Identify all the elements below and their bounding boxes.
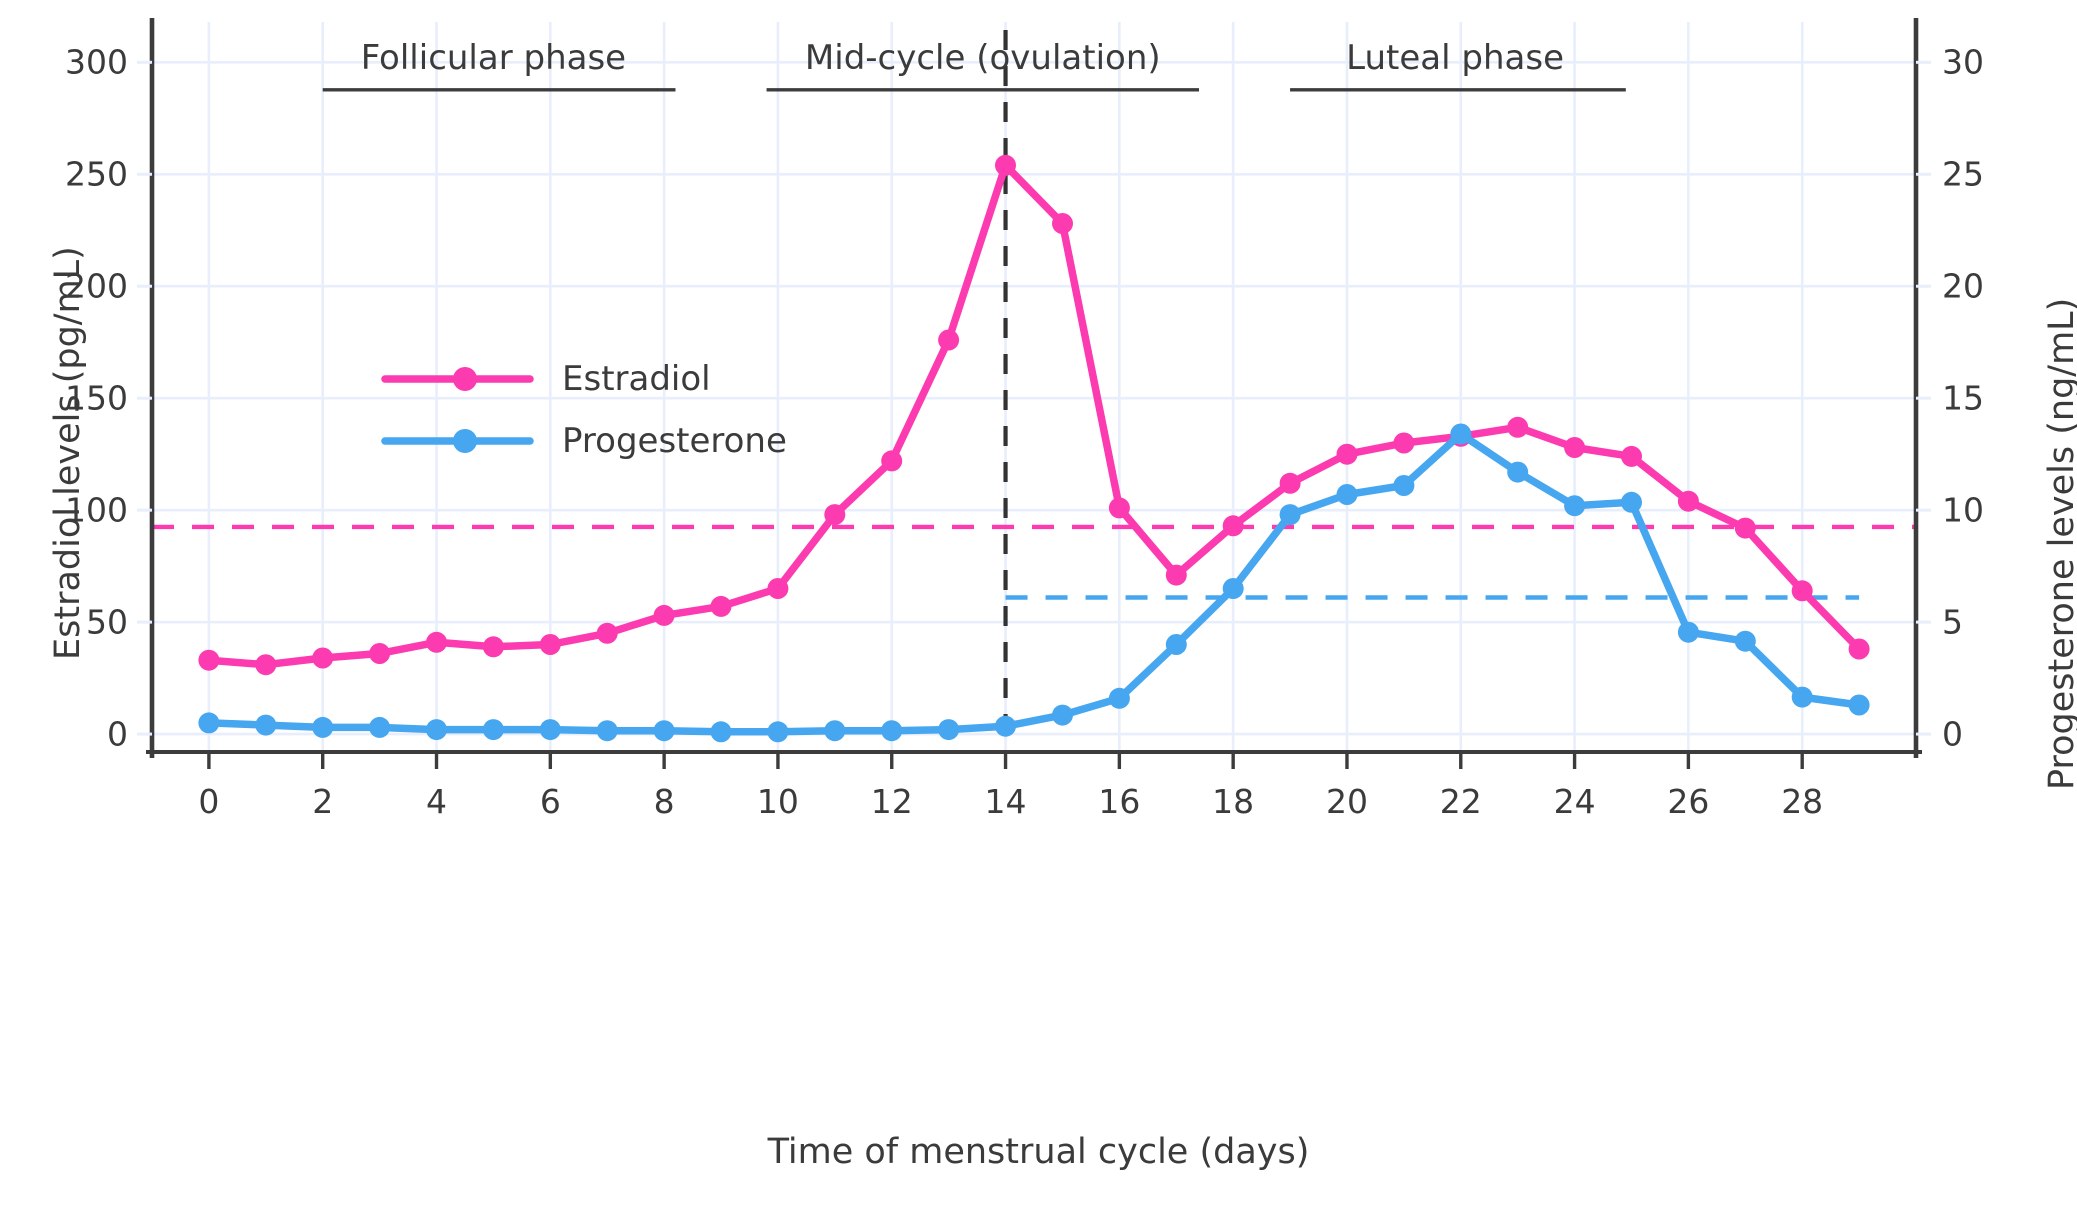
data-point [1393, 475, 1414, 496]
x-axis-tick-label: 4 [426, 782, 447, 821]
data-point [1564, 437, 1585, 458]
x-axis-tick-label: 10 [757, 782, 799, 821]
data-point [540, 719, 561, 740]
y-axis-right-tick-label: 15 [1942, 379, 1984, 418]
data-point [654, 720, 675, 741]
y-axis-right-tick-label: 10 [1942, 491, 1984, 530]
data-point [824, 720, 845, 741]
data-point [426, 632, 447, 653]
x-axis-title: Time of menstrual cycle (days) [0, 1132, 2077, 1172]
chart-figure: 0501001502002503000510152025300246810121… [0, 0, 2077, 1208]
data-point [540, 634, 561, 655]
x-axis-tick-label: 24 [1554, 782, 1596, 821]
data-point [1621, 492, 1642, 513]
axes-layer [137, 18, 1931, 769]
data-series-layer [198, 155, 1869, 743]
data-point [255, 654, 276, 675]
legend-swatches-layer [385, 367, 530, 453]
data-point [1678, 622, 1699, 643]
data-point [995, 716, 1016, 737]
series-line-progesterone [209, 434, 1859, 732]
series-progesterone [198, 424, 1869, 743]
data-point [1337, 444, 1358, 465]
data-point [1849, 695, 1870, 716]
data-point [1849, 639, 1870, 660]
y-axis-right-title: Progesterone levels (ng/mL) [2042, 298, 2077, 790]
legend-marker-progesterone [453, 429, 477, 453]
data-point [711, 596, 732, 617]
data-point [1450, 424, 1471, 445]
reference-lines-layer [152, 527, 1916, 598]
data-point [1564, 495, 1585, 516]
y-axis-right-tick-label: 0 [1942, 715, 1963, 754]
data-point [881, 720, 902, 741]
data-point [312, 717, 333, 738]
x-axis-tick-label: 26 [1667, 782, 1709, 821]
data-point [1678, 491, 1699, 512]
data-point [1735, 631, 1756, 652]
data-point [767, 721, 788, 742]
data-point [1223, 515, 1244, 536]
legend-marker-estradiol [453, 367, 477, 391]
y-axis-left-tick-label: 250 [65, 155, 128, 194]
data-point [1280, 473, 1301, 494]
data-point [938, 330, 959, 351]
data-point [767, 578, 788, 599]
data-point [597, 623, 618, 644]
x-axis-tick-label: 28 [1781, 782, 1823, 821]
y-axis-right-tick-label: 5 [1942, 603, 1963, 642]
data-point [654, 605, 675, 626]
data-point [1621, 446, 1642, 467]
y-axis-left-tick-label: 300 [65, 43, 128, 82]
y-axis-right-tick-label: 30 [1942, 43, 1984, 82]
data-point [483, 719, 504, 740]
data-point [1109, 688, 1130, 709]
x-axis-tick-label: 20 [1326, 782, 1368, 821]
data-point [369, 717, 390, 738]
series-line-estradiol [209, 165, 1859, 664]
x-axis-tick-label: 0 [198, 782, 219, 821]
data-point [1223, 578, 1244, 599]
data-point [1166, 634, 1187, 655]
data-point [1792, 687, 1813, 708]
phase-label-luteal-phase: Luteal phase [1346, 38, 1564, 78]
x-axis-tick-label: 16 [1098, 782, 1140, 821]
chart-canvas [0, 0, 2077, 1208]
data-point [1792, 580, 1813, 601]
data-point [824, 504, 845, 525]
data-point [1280, 504, 1301, 525]
y-axis-right-tick-label: 25 [1942, 155, 1984, 194]
data-point [1052, 705, 1073, 726]
data-point [426, 719, 447, 740]
x-axis-tick-label: 2 [312, 782, 333, 821]
legend-label-estradiol: Estradiol [562, 359, 711, 399]
data-point [255, 715, 276, 736]
data-point [1507, 417, 1528, 438]
data-point [938, 719, 959, 740]
y-axis-left-tick-label: 50 [86, 603, 128, 642]
data-point [483, 636, 504, 657]
data-point [1735, 518, 1756, 539]
x-axis-tick-label: 18 [1212, 782, 1254, 821]
x-axis-tick-label: 12 [871, 782, 913, 821]
data-point [597, 720, 618, 741]
y-axis-left-title: Estradiol levels (pg/mL) [48, 246, 88, 660]
data-point [369, 643, 390, 664]
data-point [1052, 213, 1073, 234]
phase-label-follicular-phase: Follicular phase [361, 38, 626, 78]
x-axis-tick-label: 14 [985, 782, 1027, 821]
x-axis-tick-label: 8 [654, 782, 675, 821]
data-point [1337, 484, 1358, 505]
y-axis-right-tick-label: 20 [1942, 267, 1984, 306]
data-point [1393, 433, 1414, 454]
data-point [1166, 565, 1187, 586]
data-point [198, 650, 219, 671]
data-point [711, 721, 732, 742]
data-point [995, 155, 1016, 176]
data-point [312, 648, 333, 669]
data-point [881, 450, 902, 471]
data-point [1507, 462, 1528, 483]
x-axis-tick-label: 6 [540, 782, 561, 821]
legend-label-progesterone: Progesterone [562, 421, 787, 461]
data-point [1109, 497, 1130, 518]
phase-label-mid-cycle-phase: Mid-cycle (ovulation) [805, 38, 1161, 78]
x-axis-tick-label: 22 [1440, 782, 1482, 821]
data-point [198, 712, 219, 733]
y-axis-left-tick-label: 0 [107, 715, 128, 754]
